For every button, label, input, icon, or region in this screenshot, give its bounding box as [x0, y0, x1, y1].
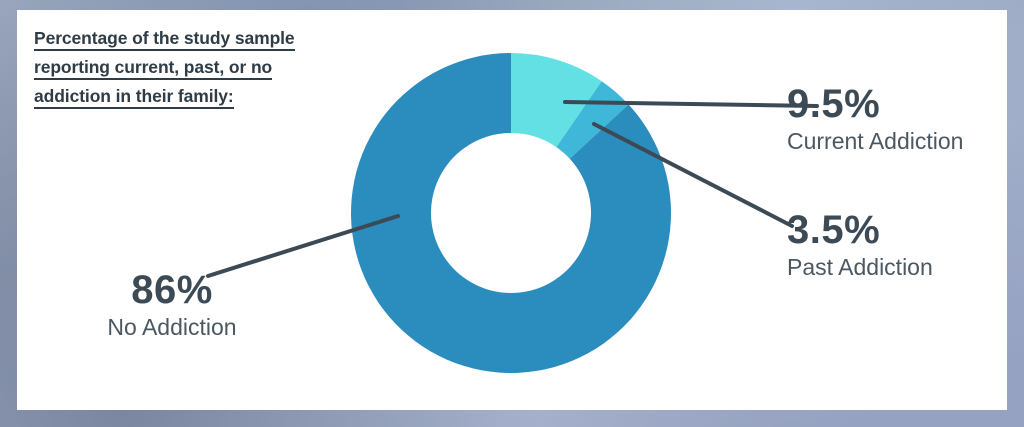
callout-past-label: Past Addiction	[787, 252, 933, 282]
callout-past-value: 3.5%	[787, 208, 933, 252]
callout-none-value: 86%	[72, 268, 272, 312]
chart-card: Percentage of the study sample reporting…	[17, 10, 1007, 410]
callout-current-value: 9.5%	[787, 82, 963, 126]
callout-current-addiction: 9.5% Current Addiction	[787, 82, 963, 156]
callout-none-label: No Addiction	[72, 312, 272, 342]
callout-no-addiction: 86% No Addiction	[72, 268, 272, 342]
callout-past-addiction: 3.5% Past Addiction	[787, 208, 933, 282]
callout-current-label: Current Addiction	[787, 126, 963, 156]
